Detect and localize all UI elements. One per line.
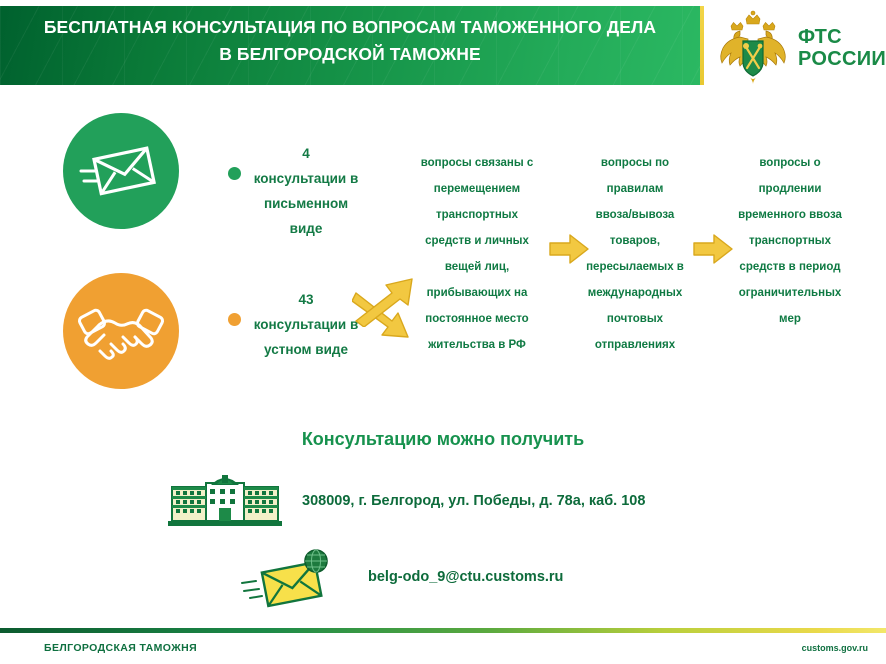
question-1-line-3: транспортных <box>403 202 551 228</box>
question-1-line-1: вопросы связаны с <box>403 150 551 176</box>
question-3-line-7: мер <box>715 306 865 332</box>
question-1-line-4: средств и личных <box>403 228 551 254</box>
question-2-line-6: международных <box>573 280 697 306</box>
question-2-line-4: товаров, <box>573 228 697 254</box>
question-2-line-7: почтовых <box>573 306 697 332</box>
contact-heading: Консультацию можно получить <box>0 429 886 450</box>
page-title-line-1: БЕСПЛАТНАЯ КОНСУЛЬТАЦИЯ ПО ВОПРОСАМ ТАМО… <box>10 14 690 41</box>
written-consultations-badge <box>63 113 179 229</box>
page-header: БЕСПЛАТНАЯ КОНСУЛЬТАЦИЯ ПО ВОПРОСАМ ТАМО… <box>0 0 886 95</box>
question-3-line-4: транспортных <box>715 228 865 254</box>
footer-gradient-rule <box>0 628 886 633</box>
footer-organization: БЕЛГОРОДСКАЯ ТАМОЖНЯ <box>44 642 197 654</box>
question-2-line-2: правилам <box>573 176 697 202</box>
contact-email[interactable]: belg-odo_9@ctu.customs.ru <box>368 569 563 585</box>
handshake-icon <box>63 273 179 389</box>
question-column-1: вопросы связаны с перемещением транспорт… <box>403 150 551 358</box>
office-address: 308009, г. Белгород, ул. Победы, д. 78а,… <box>302 493 645 509</box>
russian-double-headed-eagle-emblem <box>716 10 790 86</box>
question-1-line-8: жительства в РФ <box>403 332 551 358</box>
envelope-globe-icon <box>240 547 344 609</box>
stat-written-consultations: 4 консультации в письменном виде <box>226 141 386 241</box>
question-1-line-5: вещей лиц, <box>403 254 551 280</box>
question-column-3: вопросы о продлении временного ввоза тра… <box>715 150 865 332</box>
envelope-icon <box>63 113 179 229</box>
question-2-line-1: вопросы по <box>573 150 697 176</box>
question-1-line-2: перемещением <box>403 176 551 202</box>
fts-logo-line-1: ФТС <box>798 26 886 48</box>
fts-logo-line-2: РОССИИ <box>798 48 886 70</box>
stat-written-label-2: письменном <box>226 191 386 216</box>
question-2-line-5: пересылаемых в <box>573 254 697 280</box>
question-1-line-7: постоянное место <box>403 306 551 332</box>
stat-written-label-3: виде <box>226 216 386 241</box>
question-3-line-5: средств в период <box>715 254 865 280</box>
header-gold-edge <box>700 6 704 85</box>
government-building-icon <box>168 475 282 527</box>
question-3-line-6: ограничительных <box>715 280 865 306</box>
question-2-line-3: ввоза/вывоза <box>573 202 697 228</box>
question-1-line-6: прибывающих на <box>403 280 551 306</box>
fts-logo-text: ФТС РОССИИ <box>798 26 886 70</box>
fts-logo: ФТС РОССИИ <box>716 8 882 88</box>
question-column-2: вопросы по правилам ввоза/вывоза товаров… <box>573 150 697 358</box>
stat-written-count: 4 <box>226 141 386 166</box>
oral-consultations-badge <box>63 273 179 389</box>
page-title: БЕСПЛАТНАЯ КОНСУЛЬТАЦИЯ ПО ВОПРОСАМ ТАМО… <box>10 14 690 68</box>
page-footer: БЕЛГОРОДСКАЯ ТАМОЖНЯ customs.gov.ru <box>0 628 886 664</box>
stat-written-label-1: консультации в <box>226 166 386 191</box>
question-3-line-2: продлении <box>715 176 865 202</box>
main-content: 4 консультации в письменном виде 43 конс… <box>0 95 886 629</box>
question-3-line-1: вопросы о <box>715 150 865 176</box>
question-2-line-8: отправлениях <box>573 332 697 358</box>
footer-website[interactable]: customs.gov.ru <box>802 643 868 653</box>
question-3-line-3: временного ввоза <box>715 202 865 228</box>
page-title-line-2: В БЕЛГОРОДСКОЙ ТАМОЖНЕ <box>10 41 690 68</box>
